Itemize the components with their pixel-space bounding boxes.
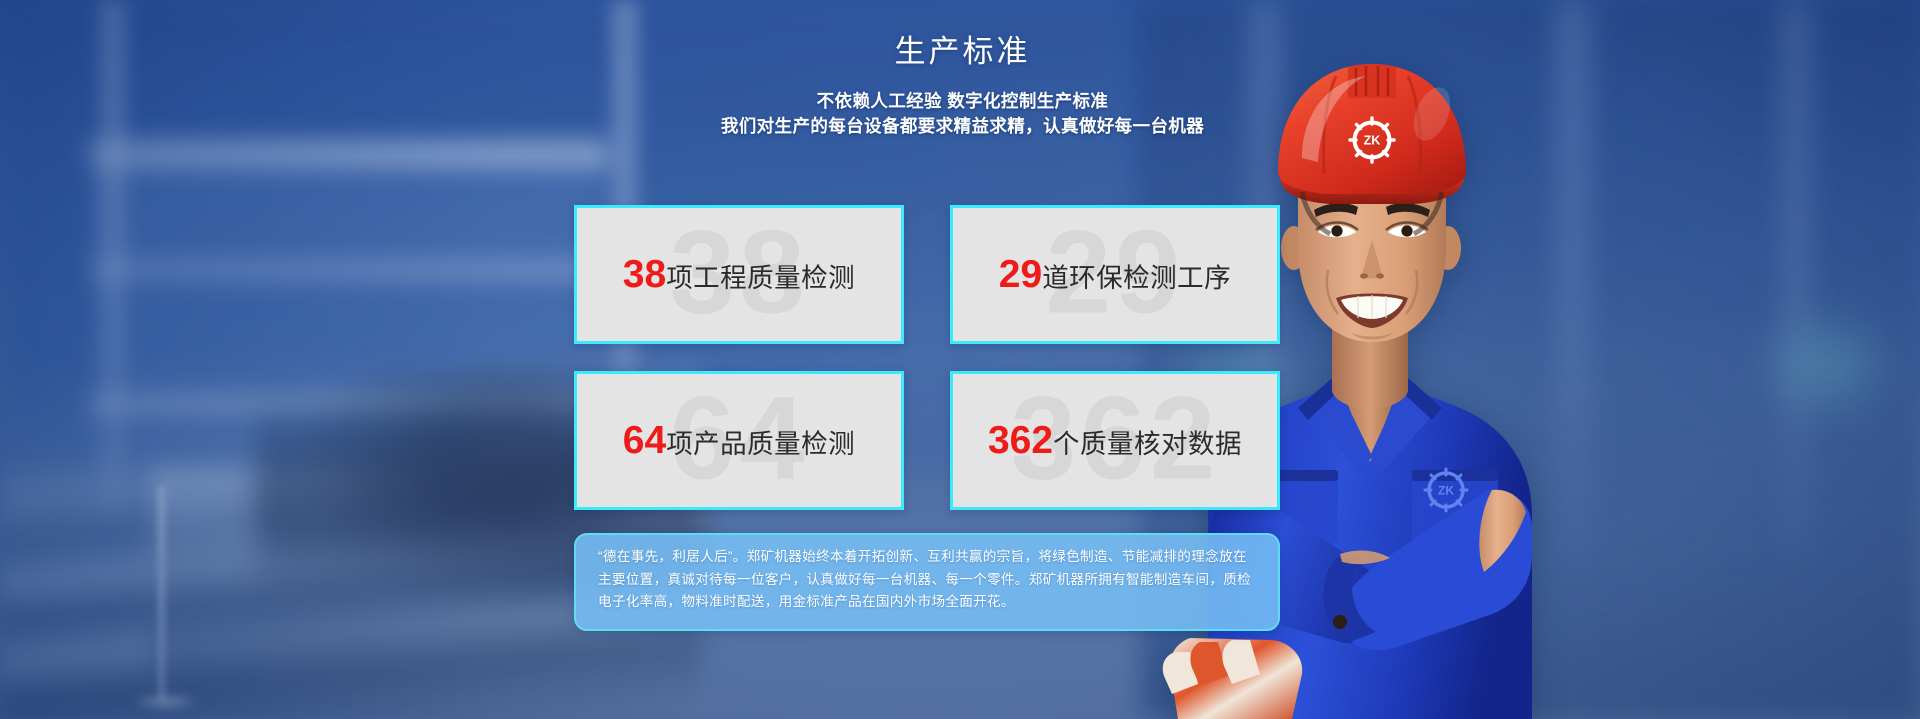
page-title: 生产标准 [0,26,1920,71]
stat-label: 道环保检测工序 [1042,256,1231,295]
stat-label: 项工程质量检测 [666,256,855,295]
subtitle-block: 不依赖人工经验 数字化控制生产标准 我们对生产的每台设备都要求精益求精，认真做好… [0,89,1920,139]
stats-grid: 38 38 项工程质量检测 29 29 道环保检测工序 64 64 项产品质量检… [574,205,1280,510]
production-standard-banner: ZK [0,0,1920,719]
stat-number: 64 [623,419,666,463]
stat-card-quality-verification-data[interactable]: 362 362 个质量核对数据 [950,371,1280,510]
stat-label: 项产品质量检测 [666,422,855,461]
stat-content: 29 道环保检测工序 [999,253,1231,297]
stat-number: 29 [999,253,1042,297]
stat-card-product-quality-inspection[interactable]: 64 64 项产品质量检测 [574,371,904,510]
stat-card-engineering-quality-inspection[interactable]: 38 38 项工程质量检测 [574,205,904,344]
stat-content: 362 个质量核对数据 [988,419,1242,463]
about-company-text: “德在事先，利居人后”。郑矿机器始终本着开拓创新、互利共赢的宗旨，将绿色制造、节… [598,546,1256,614]
stat-label: 个质量核对数据 [1053,422,1242,461]
subtitle-line-1: 不依赖人工经验 数字化控制生产标准 [0,89,1920,114]
stat-content: 38 项工程质量检测 [623,253,855,297]
subtitle-line-2: 我们对生产的每台设备都要求精益求精，认真做好每一台机器 [0,114,1920,139]
stat-number: 362 [988,419,1053,463]
stat-number: 38 [623,253,666,297]
stat-content: 64 项产品质量检测 [623,419,855,463]
stat-card-environmental-inspection-process[interactable]: 29 29 道环保检测工序 [950,205,1280,344]
about-company-box: “德在事先，利居人后”。郑矿机器始终本着开拓创新、互利共赢的宗旨，将绿色制造、节… [574,533,1280,631]
